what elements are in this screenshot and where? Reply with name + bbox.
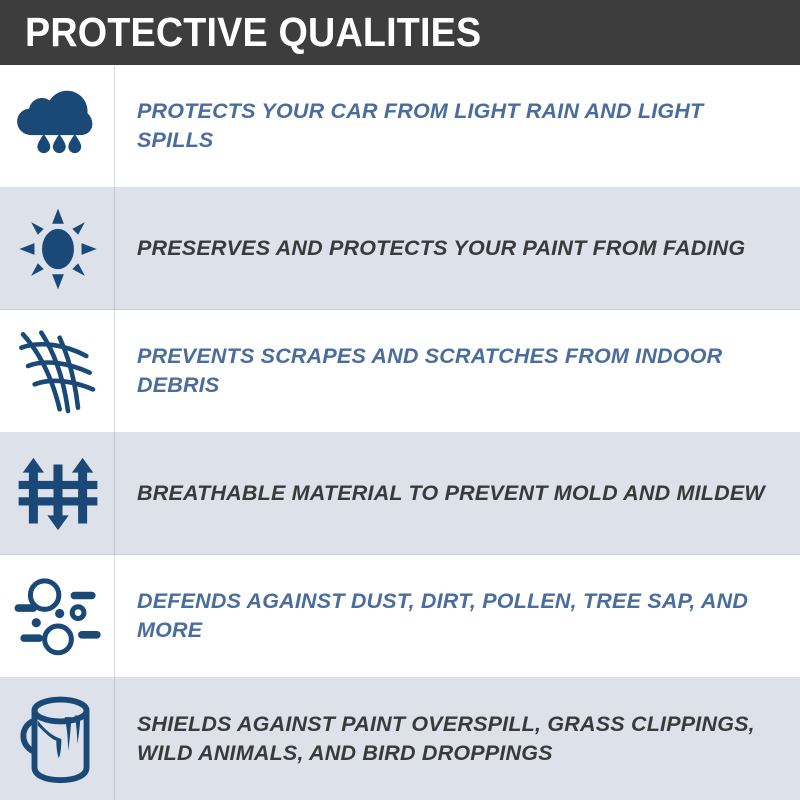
- paint-can-icon: [16, 692, 100, 786]
- feature-text-cell: PRESERVES AND PROTECTS YOUR PAINT FROM F…: [115, 188, 800, 311]
- feature-text: BREATHABLE MATERIAL TO PREVENT MOLD AND …: [137, 479, 765, 508]
- feature-row: PREVENTS SCRAPES AND SCRATCHES FROM INDO…: [0, 310, 800, 433]
- feature-text: DEFENDS AGAINST DUST, DIRT, POLLEN, TREE…: [137, 587, 778, 645]
- feature-row: PROTECTS YOUR CAR FROM LIGHT RAIN AND LI…: [0, 65, 800, 188]
- sun-icon: [16, 207, 100, 291]
- feature-icon-cell: [0, 310, 115, 433]
- feature-text-cell: DEFENDS AGAINST DUST, DIRT, POLLEN, TREE…: [115, 555, 800, 678]
- breathable-airflow-icon: [17, 453, 99, 535]
- feature-row: SHIELDS AGAINST PAINT OVERSPILL, GRASS C…: [0, 678, 800, 800]
- feature-icon-cell: [0, 433, 115, 556]
- feature-text-cell: PROTECTS YOUR CAR FROM LIGHT RAIN AND LI…: [115, 65, 800, 188]
- infographic-header: PROTECTIVE QUALITIES: [0, 0, 800, 65]
- page-title: PROTECTIVE QUALITIES: [25, 12, 481, 53]
- feature-text-cell: BREATHABLE MATERIAL TO PREVENT MOLD AND …: [115, 433, 800, 556]
- feature-text: PREVENTS SCRAPES AND SCRATCHES FROM INDO…: [137, 342, 778, 400]
- feature-icon-cell: [0, 188, 115, 311]
- feature-icon-cell: [0, 65, 115, 188]
- feature-row: PRESERVES AND PROTECTS YOUR PAINT FROM F…: [0, 188, 800, 311]
- dust-particles-icon: [12, 572, 104, 660]
- protective-qualities-infographic: PROTECTIVE QUALITIES PROTECTS YOUR CAR F…: [0, 0, 800, 800]
- feature-icon-cell: [0, 555, 115, 678]
- rain-cloud-icon: [15, 83, 101, 169]
- feature-text: PROTECTS YOUR CAR FROM LIGHT RAIN AND LI…: [137, 97, 778, 155]
- feature-text-cell: SHIELDS AGAINST PAINT OVERSPILL, GRASS C…: [115, 678, 800, 800]
- feature-text: SHIELDS AGAINST PAINT OVERSPILL, GRASS C…: [137, 710, 778, 768]
- feature-text: PRESERVES AND PROTECTS YOUR PAINT FROM F…: [137, 234, 745, 263]
- feature-row: DEFENDS AGAINST DUST, DIRT, POLLEN, TREE…: [0, 555, 800, 678]
- feature-list: PROTECTS YOUR CAR FROM LIGHT RAIN AND LI…: [0, 65, 800, 800]
- feature-row: BREATHABLE MATERIAL TO PREVENT MOLD AND …: [0, 433, 800, 556]
- feature-icon-cell: [0, 678, 115, 800]
- feature-text-cell: PREVENTS SCRAPES AND SCRATCHES FROM INDO…: [115, 310, 800, 433]
- scratches-mesh-icon: [16, 326, 100, 416]
